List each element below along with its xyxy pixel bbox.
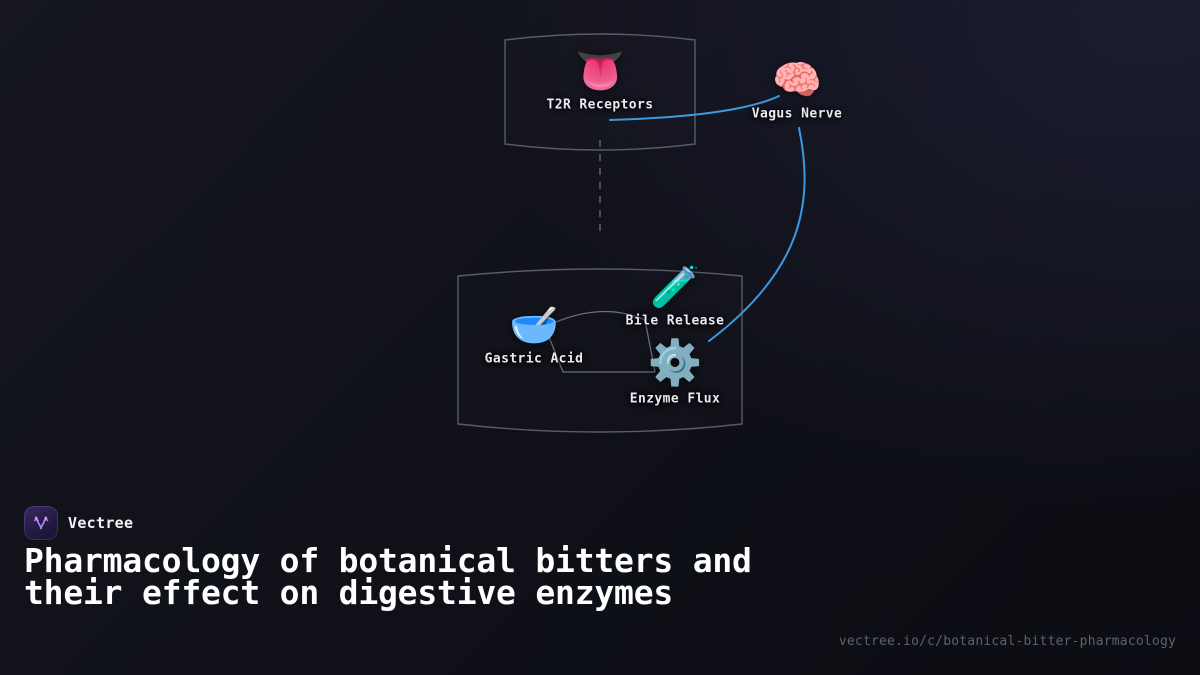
node-label-vagus-nerve: Vagus Nerve — [752, 107, 843, 122]
node-enzyme-flux[interactable]: ⚙️ Enzyme Flux — [630, 342, 721, 407]
page-title: Pharmacology of botanical bitters and th… — [24, 545, 784, 609]
node-vagus-nerve[interactable]: 🧠 Vagus Nerve — [752, 61, 843, 122]
brand-name: Vectree — [68, 514, 133, 532]
tongue-icon: 👅 — [547, 52, 654, 92]
node-label-t2r-receptors: T2R Receptors — [547, 98, 654, 113]
brain-icon: 🧠 — [752, 61, 843, 101]
node-label-bile-release: Bile Release — [626, 314, 725, 329]
bowl-icon: 🥣 — [485, 306, 584, 346]
vectree-branch-logo-icon — [24, 506, 58, 540]
brand-row: Vectree — [24, 506, 133, 540]
test-tube-icon: 🧪 — [626, 268, 725, 308]
node-bile-release[interactable]: 🧪 Bile Release — [626, 268, 725, 329]
node-gastric-acid[interactable]: 🥣 Gastric Acid — [485, 306, 584, 367]
node-label-enzyme-flux: Enzyme Flux — [630, 392, 721, 407]
node-t2r-receptors[interactable]: 👅 T2R Receptors — [547, 52, 654, 113]
concept-diagram: 👅 T2R Receptors 🧠 Vagus Nerve 🥣 Gastric … — [0, 0, 1200, 470]
share-url: vectree.io/c/botanical-bitter-pharmacolo… — [839, 634, 1176, 649]
share-card: 👅 T2R Receptors 🧠 Vagus Nerve 🥣 Gastric … — [0, 0, 1200, 675]
logo-glyph — [31, 513, 51, 533]
gear-icon: ⚙️ — [630, 342, 721, 386]
node-label-gastric-acid: Gastric Acid — [485, 352, 584, 367]
card-footer: Vectree Pharmacology of botanical bitter… — [0, 490, 1200, 675]
